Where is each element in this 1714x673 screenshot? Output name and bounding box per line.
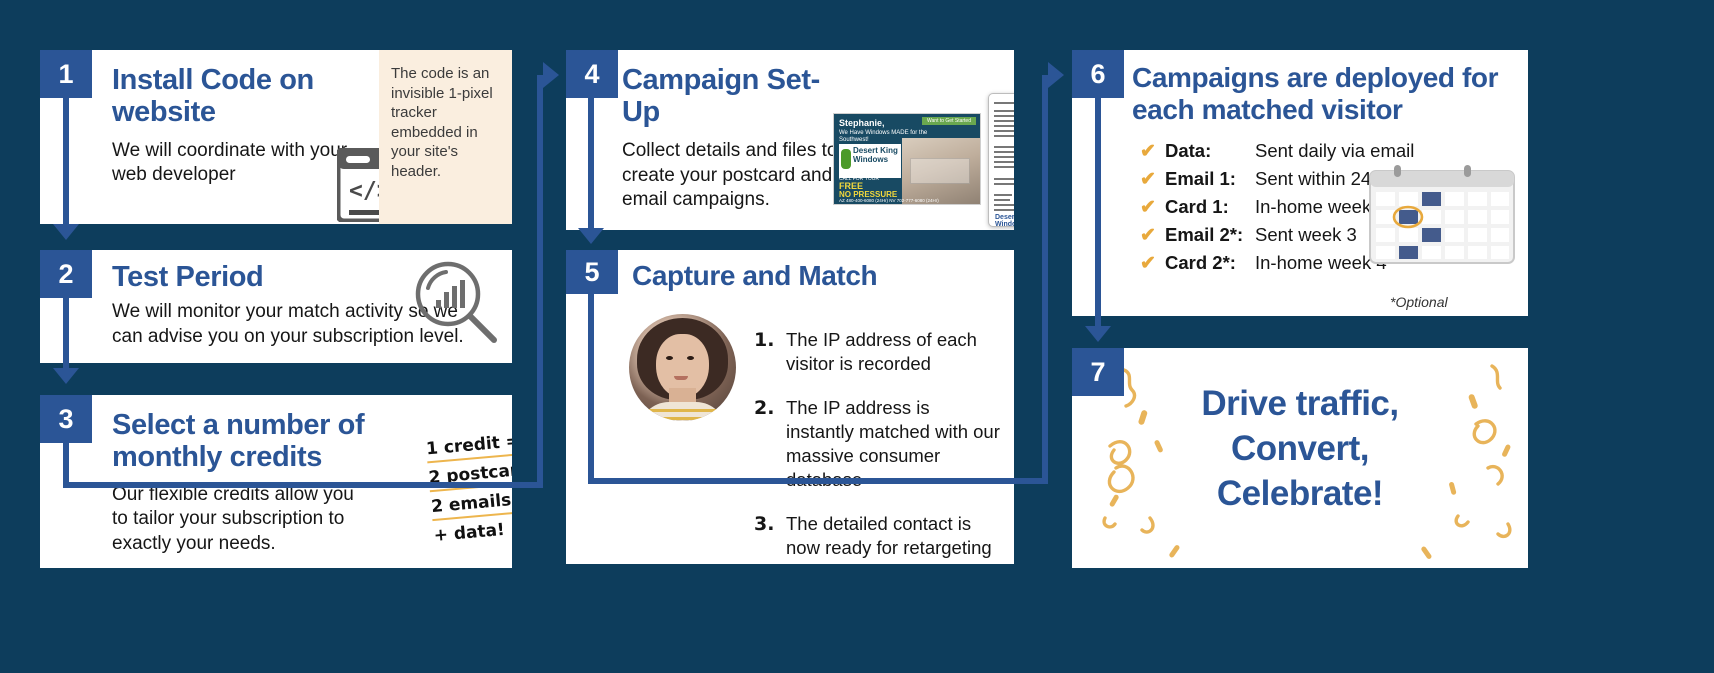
schedule-label: Card 2*: <box>1165 252 1255 274</box>
schedule-label: Email 1: <box>1165 168 1255 190</box>
step-title-1: Install Code on website <box>112 64 387 129</box>
arrow-4-to-5 <box>578 228 604 244</box>
step-1-callout-text: The code is an invisible 1-pixel tracker… <box>391 64 500 181</box>
infographic-canvas: 1 Install Code on website We will coordi… <box>0 0 1714 673</box>
arrow-6-to-7 <box>1085 326 1111 342</box>
check-icon: ✔ <box>1140 140 1165 163</box>
postcard-brand-line2: Windows <box>853 156 888 164</box>
connector-4-to-5 <box>588 98 594 228</box>
capture-match-steps-list: 1. The IP address of each visitor is rec… <box>754 328 1002 564</box>
step-body-3: Our flexible credits allow you to tailor… <box>112 483 362 556</box>
step-badge-1: 1 <box>40 50 92 98</box>
step-card-2[interactable]: 2 Test Period We will monitor your match… <box>40 250 512 363</box>
step-card-6[interactable]: 6 Campaigns are deployed for each matche… <box>1072 50 1528 316</box>
step-title-5: Capture and Match <box>632 260 877 292</box>
optional-footnote: *Optional <box>1390 294 1448 310</box>
table-row: ✔ Data: Sent daily via email <box>1140 140 1528 163</box>
step-1-callout: The code is an invisible 1-pixel tracker… <box>379 50 512 224</box>
schedule-value: In-home week 4 <box>1255 252 1387 274</box>
magnifier-chart-icon <box>410 256 502 348</box>
arrow-1-to-2 <box>53 224 79 240</box>
cactus-icon <box>841 149 851 169</box>
postcard-brand-line1: Desert King <box>853 147 898 155</box>
list-number: 1. <box>754 328 774 353</box>
schedule-value: Sent daily via email <box>1255 140 1414 162</box>
connector-3-to-4-up <box>537 75 543 488</box>
step-card-1[interactable]: 1 Install Code on website We will coordi… <box>40 50 512 224</box>
step-card-4[interactable]: 4 Campaign Set-Up Collect details and fi… <box>566 50 1014 230</box>
list-item: 1. The IP address of each visitor is rec… <box>754 328 1002 376</box>
list-number: 3. <box>754 512 774 537</box>
schedule-value: In-home week 2 <box>1255 196 1387 218</box>
step-title-3: Select a number of monthly credits <box>112 409 392 474</box>
arrow-2-to-3 <box>53 368 79 384</box>
list-number: 2. <box>754 396 774 421</box>
postcard-preview-image: Want to Get Started Stephanie, We Have W… <box>833 113 981 205</box>
step-badge-7: 7 <box>1072 348 1124 396</box>
step-title-4: Campaign Set-Up <box>622 64 822 129</box>
step-card-5[interactable]: 5 Capture and Match 1. The IP address of… <box>566 250 1014 564</box>
arrow-5-to-6 <box>1048 62 1064 88</box>
calendar-icon <box>1368 163 1516 265</box>
list-text: The IP address is instantly matched with… <box>786 397 1000 490</box>
step-badge-5: 5 <box>566 250 618 294</box>
schedule-label: Card 1: <box>1165 196 1255 218</box>
step-badge-2: 2 <box>40 250 92 298</box>
connector-5-to-6-h <box>588 478 1048 484</box>
arrow-3-to-4 <box>543 62 559 88</box>
connector-6-to-7 <box>1095 98 1101 326</box>
schedule-label: Data: <box>1165 140 1255 162</box>
postcard-brand-logo: Desert King Windows <box>839 144 901 178</box>
step-badge-6: 6 <box>1072 50 1124 98</box>
schedule-value: Sent week 3 <box>1255 224 1357 246</box>
check-icon: ✔ <box>1140 252 1165 275</box>
connector-3-to-4-h <box>63 482 543 488</box>
step-badge-3: 3 <box>40 395 92 443</box>
list-text: The IP address of each visitor is record… <box>786 329 977 374</box>
connector-1-to-2 <box>63 98 69 224</box>
step-title-6: Campaigns are deployed for each matched … <box>1132 62 1517 126</box>
check-icon: ✔ <box>1140 196 1165 219</box>
postcard-phone: AZ 480-400-6080 (24Hr) NV 702-777-6080 (… <box>839 198 939 203</box>
credits-handwritten-note: 1 credit = 2 postcards, 2 emails, + data… <box>425 428 512 552</box>
postcard-flag: Want to Get Started <box>922 117 976 125</box>
step-body-4: Collect details and files to create your… <box>622 139 852 213</box>
connector-2-to-3 <box>63 296 69 368</box>
connector-5-to-6-up <box>1042 75 1048 484</box>
headline-line-1: Drive traffic, <box>1072 382 1528 427</box>
check-icon: ✔ <box>1140 168 1165 191</box>
step-card-7[interactable]: 7 <box>1072 348 1528 568</box>
headline-line-3: Celebrate! <box>1072 472 1528 517</box>
connector-5-to-6-v <box>588 294 594 484</box>
list-text: The detailed contact is now ready for re… <box>786 513 992 558</box>
postcard-room-photo <box>902 138 980 205</box>
letter-preview-image: Desert KingWindows <box>988 93 1014 227</box>
postcard-subtitle: We Have Windows MADE for the Southwest! <box>839 130 949 143</box>
celebration-headline: Drive traffic, Convert, Celebrate! <box>1072 382 1528 516</box>
step-badge-4: 4 <box>566 50 618 98</box>
list-item: 3. The detailed contact is now ready for… <box>754 512 1002 560</box>
person-portrait-avatar <box>629 314 736 421</box>
check-icon: ✔ <box>1140 224 1165 247</box>
schedule-label: Email 2*: <box>1165 224 1255 246</box>
postcard-name: Stephanie, <box>839 119 885 129</box>
headline-line-2: Convert, <box>1072 427 1528 472</box>
